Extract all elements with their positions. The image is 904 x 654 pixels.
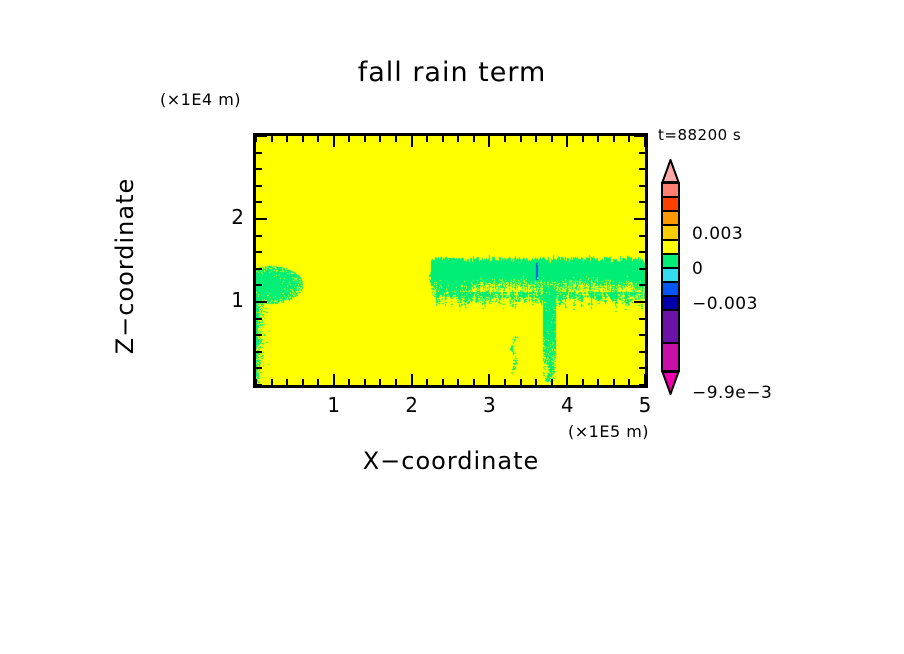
x-tick: [426, 379, 428, 385]
x-tick: [582, 379, 584, 385]
colorbar-tick-label: −0.003: [692, 294, 758, 314]
y-tick-right: [639, 284, 645, 286]
y-tick: [256, 268, 262, 270]
y-tick-right: [639, 251, 645, 253]
x-tick: [597, 379, 599, 385]
y-tick-label: 1: [204, 288, 244, 312]
plot-area: [253, 133, 648, 388]
x-tick-top: [395, 136, 397, 142]
y-tick: [256, 152, 262, 154]
x-tick: [442, 379, 444, 385]
y-axis-title: Z−coordinate: [111, 136, 139, 396]
x-tick: [535, 379, 537, 385]
y-tick: [256, 334, 262, 336]
x-tick: [520, 379, 522, 385]
x-tick-label: 5: [625, 393, 665, 417]
x-tick-top: [442, 136, 444, 142]
colorbar: [661, 182, 680, 372]
colorbar-tick-label: −9.9e−3: [692, 383, 772, 403]
colorbar-band: [661, 281, 680, 295]
colorbar-band: [661, 196, 680, 210]
y-tick-label: 2: [204, 205, 244, 229]
colorbar-separator: [661, 267, 680, 269]
colorbar-top-arrow: [661, 159, 680, 183]
y-tick-right: [639, 351, 645, 353]
y-tick: [256, 251, 262, 253]
x-tick: [395, 379, 397, 385]
x-tick-top: [333, 136, 335, 147]
y-tick-right: [639, 334, 645, 336]
x-tick: [411, 374, 413, 385]
colorbar-separator: [661, 295, 680, 297]
y-tick-right: [639, 318, 645, 320]
y-axis-unit-label: (×1E4 m): [160, 90, 241, 109]
x-tick-top: [426, 136, 428, 142]
x-tick-top: [613, 136, 615, 142]
x-tick: [628, 379, 630, 385]
y-tick-right: [634, 301, 645, 303]
x-tick-top: [348, 136, 350, 142]
chart-title: fall rain term: [0, 57, 904, 88]
x-tick-top: [271, 136, 273, 142]
x-tick: [333, 374, 335, 385]
x-tick-top: [628, 136, 630, 142]
x-tick: [317, 379, 319, 385]
x-tick-top: [473, 136, 475, 142]
x-tick: [286, 379, 288, 385]
x-tick-top: [535, 136, 537, 142]
x-tick: [271, 379, 273, 385]
y-tick: [256, 318, 262, 320]
x-tick: [488, 374, 490, 385]
y-tick: [256, 367, 262, 369]
y-tick: [256, 168, 262, 170]
x-tick: [364, 379, 366, 385]
x-tick-label: 2: [392, 393, 432, 417]
y-tick: [256, 284, 262, 286]
time-annotation: t=88200 s: [658, 126, 741, 144]
x-tick-top: [582, 136, 584, 142]
colorbar-band: [661, 267, 680, 281]
x-tick: [348, 379, 350, 385]
y-tick: [256, 218, 267, 220]
colorbar-band: [661, 295, 680, 309]
y-tick-right: [639, 168, 645, 170]
y-tick-right: [634, 218, 645, 220]
x-tick-top: [504, 136, 506, 142]
x-tick: [613, 379, 615, 385]
colorbar-band: [661, 210, 680, 224]
x-tick-top: [317, 136, 319, 142]
y-tick: [256, 351, 262, 353]
x-tick-top: [520, 136, 522, 142]
x-tick: [566, 374, 568, 385]
y-tick-right: [639, 367, 645, 369]
x-tick-label: 1: [314, 393, 354, 417]
y-tick-right: [639, 201, 645, 203]
x-axis-unit-label: (×1E5 m): [568, 422, 649, 441]
x-tick: [379, 379, 381, 385]
colorbar-separator: [661, 309, 680, 311]
colorbar-separator: [661, 210, 680, 212]
x-tick: [551, 379, 553, 385]
y-tick-right: [634, 135, 645, 137]
colorbar-separator: [661, 239, 680, 241]
x-tick-top: [379, 136, 381, 142]
colorbar-band: [661, 239, 680, 253]
heatmap-canvas: [256, 136, 645, 385]
x-tick: [473, 379, 475, 385]
x-tick-label: 3: [469, 393, 509, 417]
y-tick-right: [639, 185, 645, 187]
y-tick-right: [639, 152, 645, 154]
x-tick-top: [488, 136, 490, 147]
colorbar-separator: [661, 253, 680, 255]
x-tick-top: [566, 136, 568, 147]
colorbar-band: [661, 224, 680, 238]
colorbar-tick-label: 0.003: [692, 224, 743, 244]
y-tick: [256, 201, 262, 203]
colorbar-bottom-arrow: [661, 371, 680, 395]
x-tick-top: [551, 136, 553, 142]
x-tick-top: [411, 136, 413, 147]
colorbar-band: [661, 342, 680, 372]
colorbar-separator: [661, 224, 680, 226]
colorbar-separator: [661, 196, 680, 198]
x-tick-top: [286, 136, 288, 142]
colorbar-tick-label: 0: [692, 259, 703, 279]
x-tick: [457, 379, 459, 385]
colorbar-band: [661, 182, 680, 196]
y-tick-right: [639, 268, 645, 270]
colorbar-band: [661, 309, 680, 342]
x-tick: [302, 379, 304, 385]
y-tick: [256, 301, 267, 303]
x-tick-top: [597, 136, 599, 142]
y-tick-right: [639, 235, 645, 237]
figure-root: fall rain term (×1E4 m) t=88200 s 123451…: [0, 0, 904, 654]
x-tick-top: [364, 136, 366, 142]
y-tick: [256, 185, 262, 187]
x-tick-top: [302, 136, 304, 142]
y-tick: [256, 135, 267, 137]
y-tick: [256, 235, 262, 237]
x-tick-top: [644, 136, 646, 147]
y-tick-right: [639, 384, 645, 386]
y-tick: [256, 384, 262, 386]
colorbar-separator: [661, 281, 680, 283]
colorbar-band: [661, 253, 680, 267]
x-axis-title: X−coordinate: [253, 447, 649, 475]
x-tick: [504, 379, 506, 385]
x-tick-label: 4: [547, 393, 587, 417]
x-tick-top: [457, 136, 459, 142]
colorbar-separator: [661, 342, 680, 344]
